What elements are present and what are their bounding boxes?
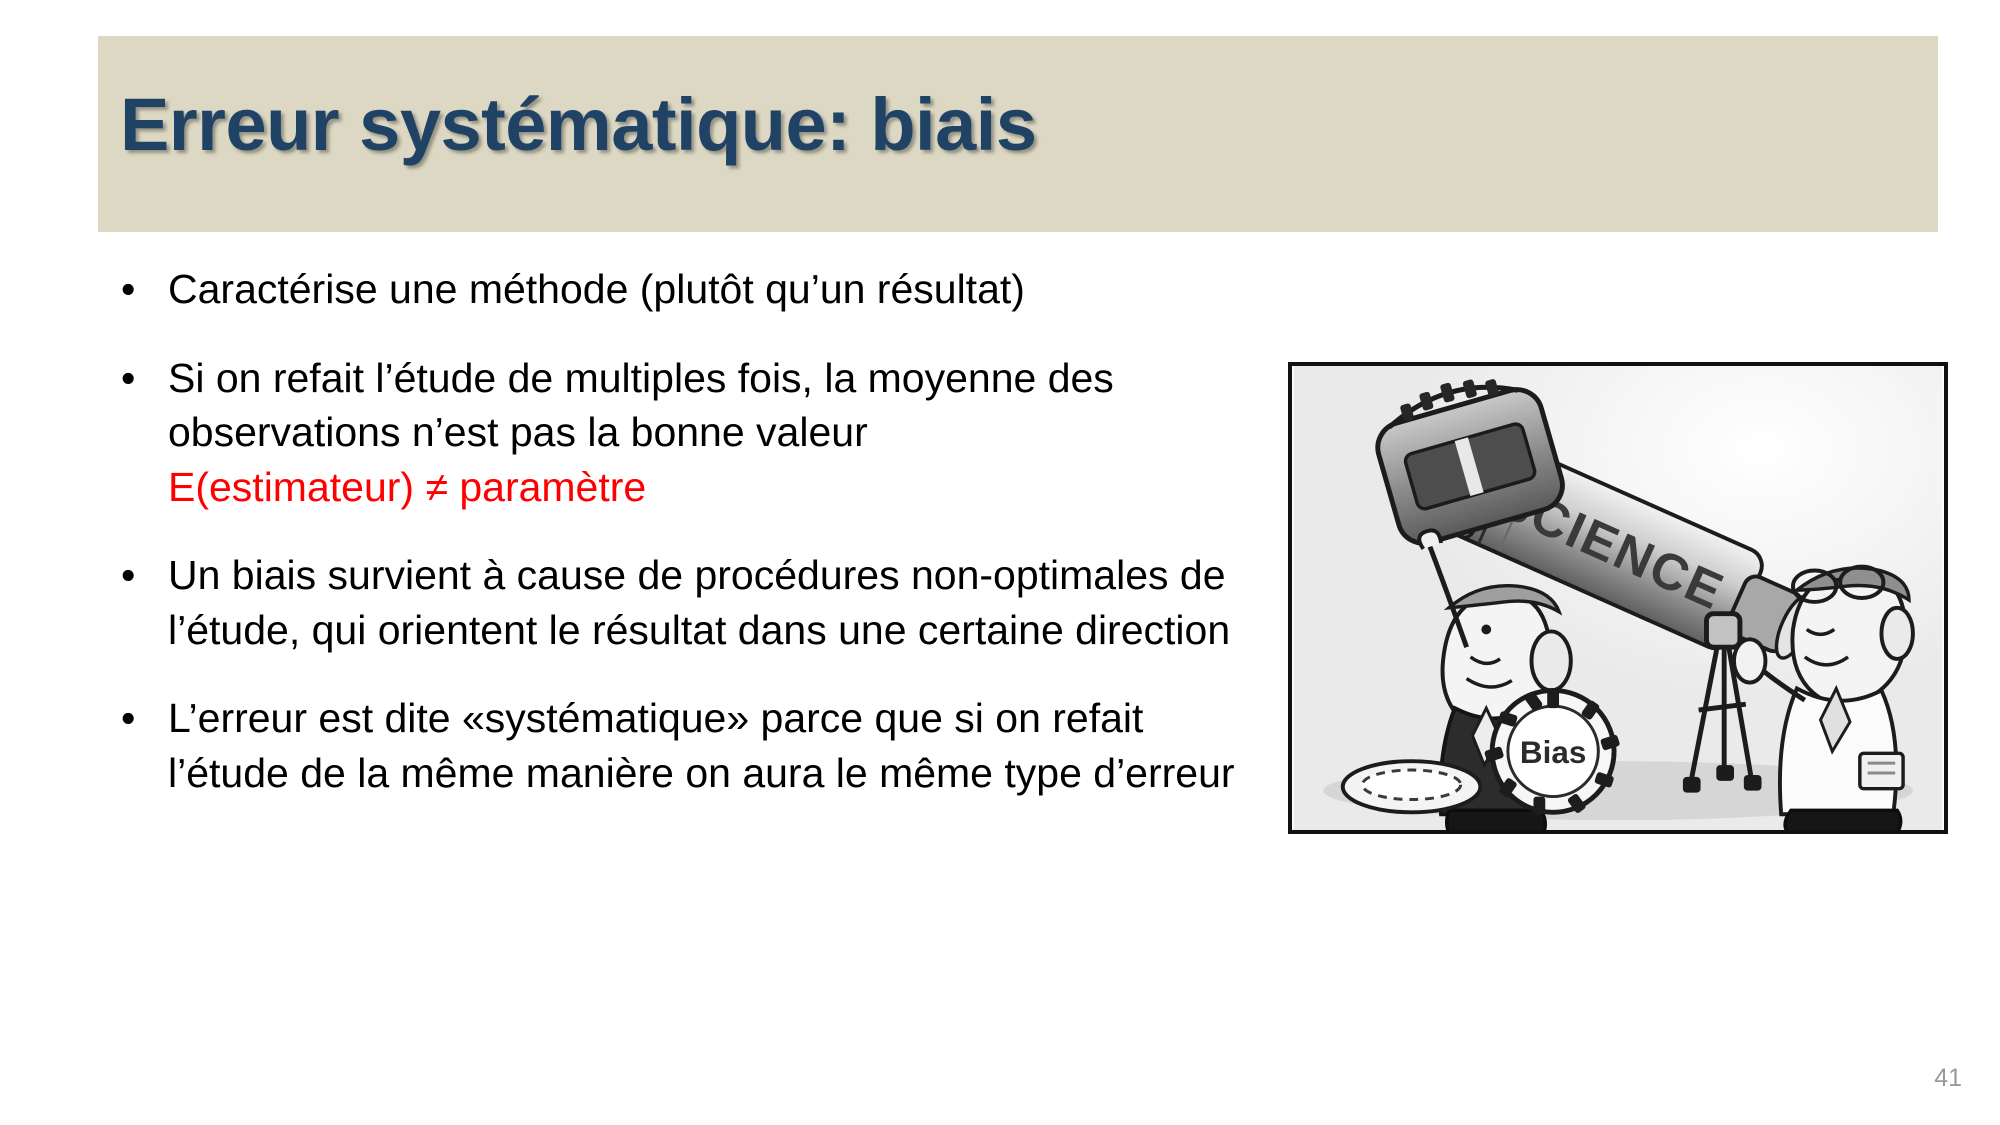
bullet-marker-icon: • — [121, 548, 135, 603]
list-item-text: Un biais survient à cause de procédures … — [168, 548, 1255, 657]
formula-text: E(estimateur) ≠ paramètre — [168, 460, 1255, 515]
list-item-text: Caractérise une méthode (plutôt qu’un ré… — [168, 262, 1255, 317]
spare-lens — [1343, 761, 1481, 812]
list-item-text: L’erreur est dite «systématique» parce q… — [168, 691, 1255, 800]
list-item: • L’erreur est dite «systématique» parce… — [105, 691, 1255, 800]
bias-cartoon-image: SCIENCE — [1288, 362, 1948, 834]
cartoon-illustration-icon: SCIENCE — [1292, 366, 1944, 830]
bullet-marker-icon: • — [121, 351, 135, 406]
slide: Erreur systématique: biais • Caractérise… — [0, 0, 2000, 1125]
list-item: • Caractérise une méthode (plutôt qu’un … — [105, 262, 1255, 317]
bullet-marker-icon: • — [121, 691, 135, 746]
bullet-list: • Caractérise une méthode (plutôt qu’un … — [105, 262, 1255, 800]
list-item-text: Si on refait l’étude de multiples fois, … — [168, 351, 1255, 460]
list-item: • Si on refait l’étude de multiples fois… — [105, 351, 1255, 515]
list-item: • Un biais survient à cause de procédure… — [105, 548, 1255, 657]
page-number: 41 — [1934, 1064, 1962, 1093]
bias-label: Bias — [1520, 735, 1586, 770]
bullet-marker-icon: • — [121, 262, 135, 317]
page-title: Erreur systématique: biais — [120, 88, 1036, 162]
